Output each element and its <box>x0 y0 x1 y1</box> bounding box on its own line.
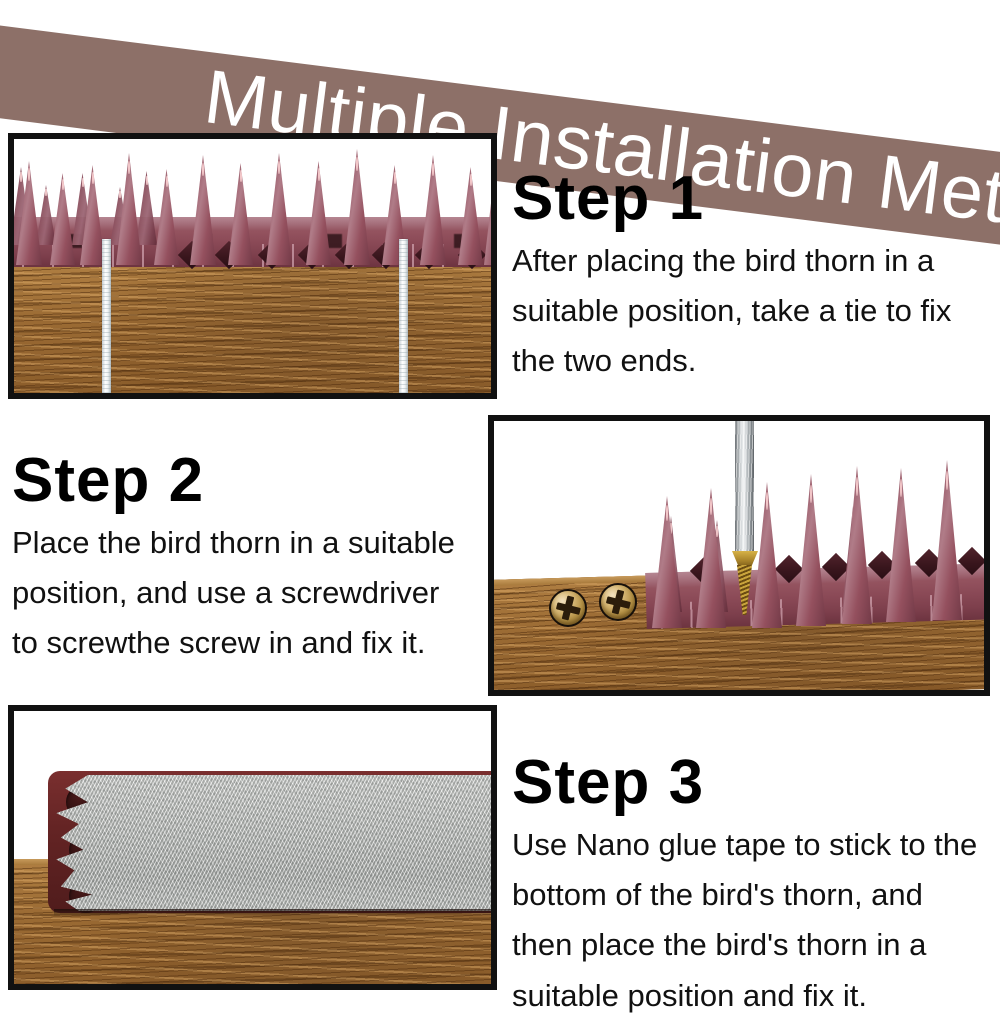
spike <box>344 149 370 265</box>
loose-screw-head <box>599 583 637 621</box>
step-2-text-block: Step 2 Place the bird thorn in a suitabl… <box>12 450 467 669</box>
zip-tie <box>102 239 111 393</box>
phillips-cross-icon <box>562 596 575 621</box>
photo-panel-step-2-content <box>494 421 984 690</box>
spike <box>266 153 292 265</box>
screwdriver-shaft <box>735 421 754 555</box>
spike-back <box>36 185 56 245</box>
step-3-body: Use Nano glue tape to stick to the botto… <box>512 820 990 1021</box>
spike <box>228 163 253 265</box>
spike <box>886 468 916 622</box>
spike <box>652 496 682 628</box>
spike <box>420 155 446 265</box>
spike <box>306 161 331 265</box>
wood-board <box>14 261 491 393</box>
screw-head-under-driver <box>732 551 758 567</box>
spike <box>842 466 872 624</box>
zip-tie <box>399 239 408 393</box>
step-1-text-block: Step 1 After placing the bird thorn in a… <box>512 168 982 387</box>
tape-drop-shadow <box>54 909 491 916</box>
spike-back <box>136 171 157 245</box>
step-3-text-block: Step 3 Use Nano glue tape to stick to th… <box>512 752 990 1021</box>
photo-panel-step-3 <box>8 705 497 990</box>
nano-glue-tape <box>52 775 491 911</box>
photo-panel-step-1 <box>8 133 497 399</box>
phillips-cross-icon <box>612 590 625 615</box>
loose-screw-head <box>549 589 587 627</box>
photo-panel-step-2 <box>488 415 990 696</box>
step-1-body: After placing the bird thorn in a suitab… <box>512 236 982 387</box>
spike <box>190 155 216 265</box>
step-2-body: Place the bird thorn in a suitable posit… <box>12 518 467 669</box>
step-3-title: Step 3 <box>512 752 990 814</box>
photo-panel-step-3-content <box>14 711 491 984</box>
spike <box>458 167 483 265</box>
spike <box>796 474 826 626</box>
step-2-title: Step 2 <box>12 450 467 512</box>
step-1-title: Step 1 <box>512 168 982 230</box>
photo-panel-step-1-content <box>14 139 491 393</box>
spike <box>932 460 962 620</box>
spike <box>752 482 782 628</box>
